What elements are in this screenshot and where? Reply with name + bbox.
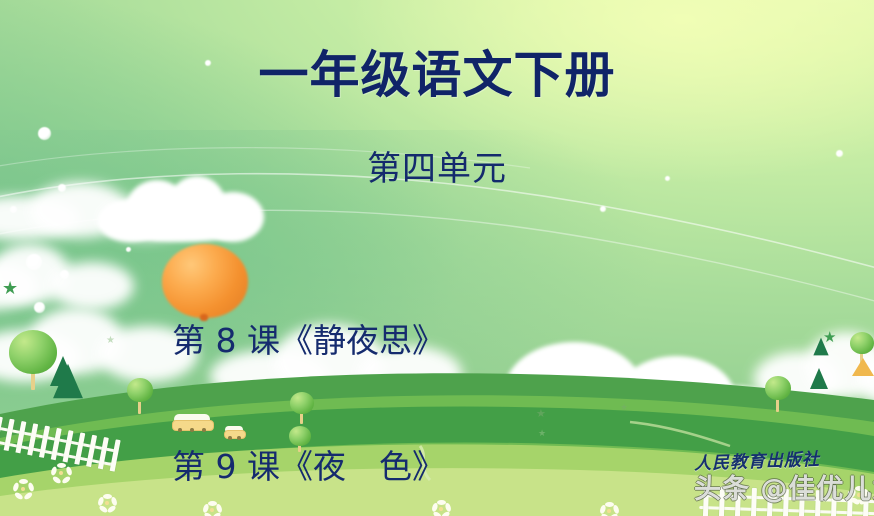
yellow-tent xyxy=(852,358,874,376)
green-star: ★ xyxy=(823,330,836,345)
sparkle-dot xyxy=(38,127,51,140)
pine-tree xyxy=(53,364,83,399)
daisy-flower xyxy=(596,498,622,516)
sparkle-dot xyxy=(600,206,606,212)
daisy-flower xyxy=(46,458,76,488)
green-star: ★ xyxy=(620,404,628,413)
page-title: 一年级语文下册 xyxy=(0,46,874,104)
green-star: ★ xyxy=(536,408,546,419)
round-tree xyxy=(127,378,153,402)
lesson-list: 第 8 课《静夜思》 第 9 课《夜 色》 第10课《端午粽》 第11课《彩 虹… xyxy=(172,236,445,516)
green-star: ★ xyxy=(2,280,18,298)
lesson-list-item: 第 8 课《静夜思》 xyxy=(172,320,445,362)
daisy-flower xyxy=(94,490,120,516)
toutiao-watermark: 头条 @佳优儿女 xyxy=(694,474,874,506)
round-tree xyxy=(850,332,874,354)
tree-trunk xyxy=(776,398,779,412)
unit-subtitle: 第四单元 xyxy=(0,148,874,190)
pine-tree xyxy=(810,368,828,389)
green-star: ★ xyxy=(538,430,546,439)
presentation-slide: ★ ★ ★ ★ ★ ★ xyxy=(0,0,874,516)
green-star: ★ xyxy=(106,336,115,346)
lesson-list-item: 第 9 课《夜 色》 xyxy=(172,446,445,488)
tree-trunk xyxy=(138,400,141,414)
round-tree xyxy=(765,376,791,400)
daisy-flower xyxy=(8,474,38,504)
